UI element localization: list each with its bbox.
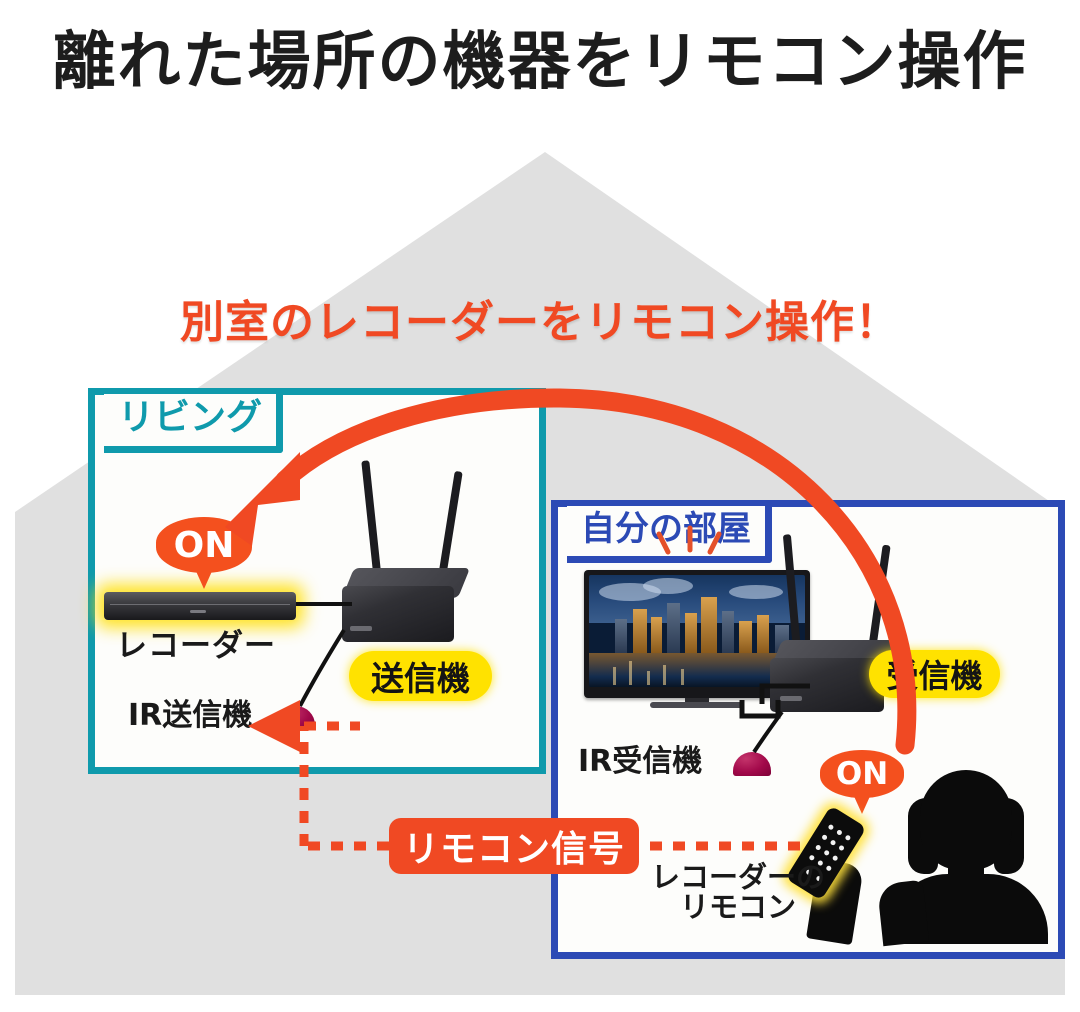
tv-screen-reflection bbox=[629, 661, 632, 685]
ir-transmitter-label: IR送信機 bbox=[128, 700, 252, 732]
transmitter-device bbox=[336, 460, 486, 630]
tv-screen-reflection bbox=[663, 665, 666, 685]
tv-screen-building bbox=[633, 609, 647, 653]
remote-label-line2: リモコン bbox=[680, 890, 796, 924]
tv-stand-base bbox=[650, 702, 744, 708]
infographic-canvas: 離れた場所の機器をリモコン操作 別室のレコーダーをリモコン操作！ リビング 自分… bbox=[0, 0, 1080, 1012]
tv-screen-building bbox=[722, 611, 734, 653]
ir-receiver-label: IR受信機 bbox=[578, 746, 702, 778]
receiver-port bbox=[780, 696, 802, 701]
tv-screen-building bbox=[757, 615, 769, 653]
antenna-icon bbox=[361, 460, 382, 582]
tv-screen-building bbox=[701, 597, 717, 653]
status-badge-on-recorder: ON bbox=[156, 517, 252, 573]
person-head bbox=[920, 770, 1012, 870]
tv-screen-reflection bbox=[647, 671, 650, 685]
room-own-label: 自分の部屋 bbox=[567, 506, 772, 563]
badge-transmitter: 送信機 bbox=[349, 651, 492, 701]
tv-screen-building bbox=[739, 621, 752, 653]
tv-screen-reflection bbox=[681, 669, 684, 685]
recorder-display bbox=[190, 610, 206, 613]
person-arm bbox=[877, 880, 929, 946]
page-title: 離れた場所の機器をリモコン操作 bbox=[0, 8, 1080, 104]
badge-remote-signal: リモコン信号 bbox=[389, 818, 639, 874]
remote-label: レコーダーの リモコン bbox=[648, 862, 828, 923]
recorder-seam bbox=[110, 604, 290, 605]
subtitle-banner: 別室のレコーダーをリモコン操作！ bbox=[0, 288, 1080, 348]
recorder-device bbox=[104, 592, 296, 620]
transmitter-body bbox=[342, 586, 454, 642]
tv-screen-cloud bbox=[643, 578, 693, 594]
remote-label-line1: レコーダーの bbox=[651, 860, 825, 894]
tv-screen-building bbox=[651, 617, 662, 653]
room-living-label: リビング bbox=[104, 394, 283, 453]
receiver-body bbox=[770, 658, 884, 712]
recorder-label: レコーダー bbox=[116, 630, 276, 663]
person-silhouette-icon bbox=[880, 770, 1056, 942]
tv-screen-building bbox=[615, 619, 627, 653]
tv-screen-building bbox=[685, 613, 697, 653]
transmitter-port bbox=[350, 626, 372, 631]
tv-screen-building bbox=[667, 603, 680, 653]
badge-receiver: 受信機 bbox=[869, 650, 1000, 698]
tv-screen-reflection bbox=[613, 667, 616, 685]
